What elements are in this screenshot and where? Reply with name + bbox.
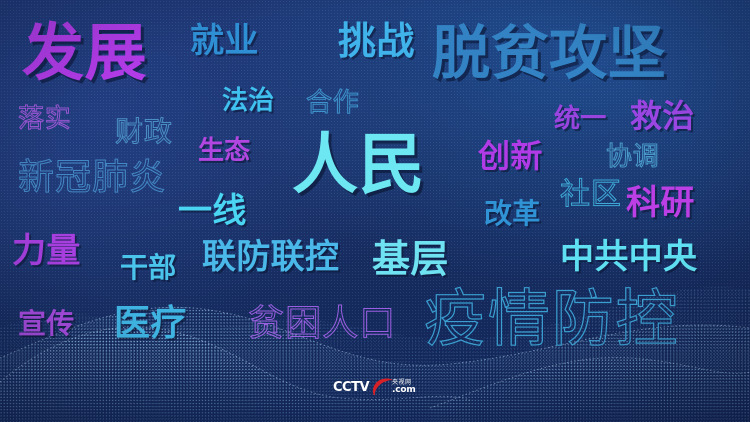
word-term: 合作 bbox=[306, 90, 360, 116]
word-term: 挑战 bbox=[338, 22, 415, 60]
word-term: 基层 bbox=[372, 240, 449, 278]
cctv-domain-text: .com bbox=[392, 386, 416, 395]
word-term: 疫情防控 bbox=[424, 288, 679, 350]
word-term: 就业 bbox=[190, 24, 259, 58]
wordcloud-canvas: 发展就业挑战脱贫攻坚落实财政法治合作生态统一救治人民创新协调新冠肺炎社区科研一线… bbox=[0, 0, 750, 422]
word-term: 落实 bbox=[18, 106, 72, 132]
word-term: 脱贫攻坚 bbox=[432, 24, 666, 82]
cctv-logo-text: 央视网 .com bbox=[392, 380, 416, 395]
cctv-logo: CCTV 央视网 .com bbox=[333, 377, 416, 397]
word-term: 发展 bbox=[22, 22, 147, 84]
word-term: 干部 bbox=[120, 254, 177, 282]
word-term: 宣传 bbox=[18, 310, 75, 338]
word-term: 力量 bbox=[12, 234, 81, 268]
word-term: 创新 bbox=[478, 140, 543, 172]
word-term: 社区 bbox=[560, 180, 622, 210]
word-term: 一线 bbox=[178, 194, 247, 228]
word-term: 医疗 bbox=[114, 306, 187, 342]
word-term: 人民 bbox=[292, 132, 425, 198]
word-term: 中共中央 bbox=[560, 240, 697, 274]
word-term: 财政 bbox=[115, 118, 173, 146]
cctv-swoosh-icon bbox=[371, 377, 393, 397]
word-term: 科研 bbox=[626, 186, 695, 220]
word-term: 协调 bbox=[606, 144, 660, 170]
word-term: 生态 bbox=[198, 138, 251, 164]
word-term: 法治 bbox=[222, 88, 275, 114]
word-term: 新冠肺炎 bbox=[18, 160, 166, 196]
word-term: 联防联控 bbox=[202, 240, 339, 274]
word-term: 贫困人口 bbox=[248, 306, 396, 342]
word-term: 统一 bbox=[554, 106, 607, 132]
cctv-wordmark: CCTV bbox=[333, 380, 369, 395]
word-term: 救治 bbox=[630, 100, 695, 132]
word-term: 改革 bbox=[484, 200, 541, 228]
